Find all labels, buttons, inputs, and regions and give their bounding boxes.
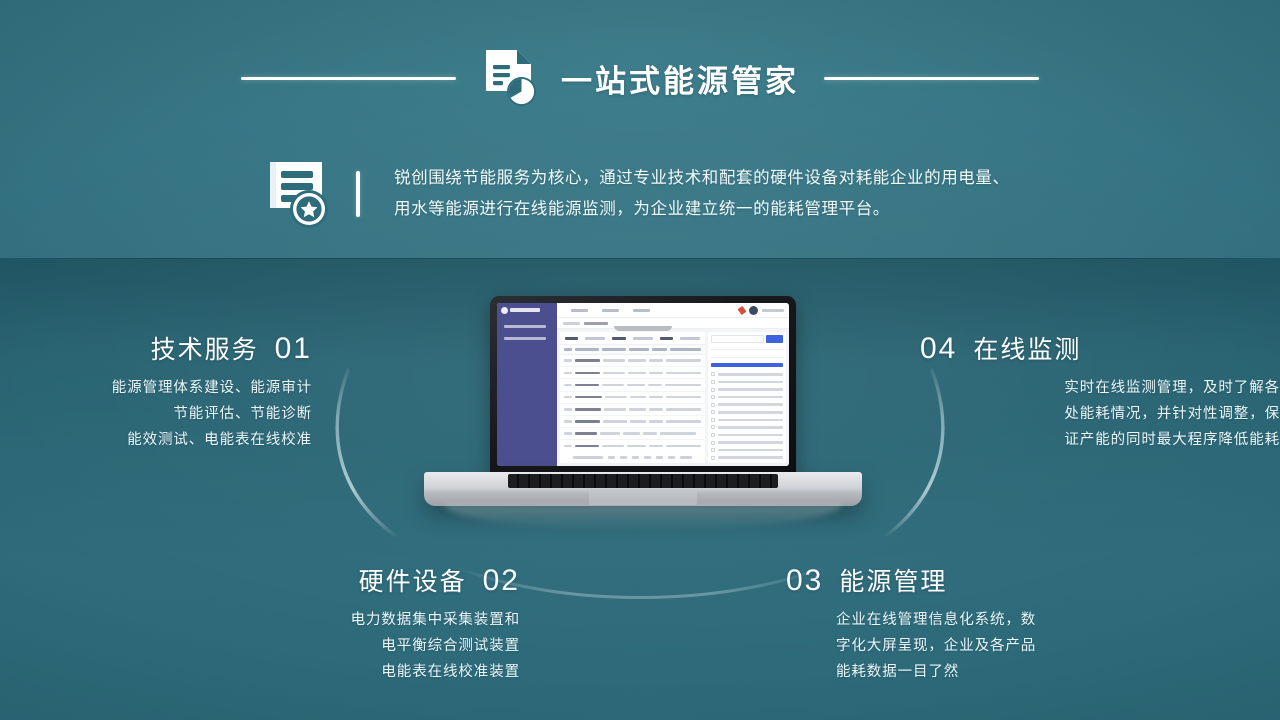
feature-desc-line: 节能评估、节能诊断 — [0, 402, 312, 428]
feature-online-monitoring: 04 在线监测 实时在线监测管理，及时了解各 处能耗情况，并针对性调整，保 证产… — [920, 330, 1280, 453]
feature-desc-line: 证产能的同时最大程序降低能耗 — [964, 428, 1280, 454]
page-header: 一站式能源管家 — [0, 44, 1280, 112]
feature-heading: 03 能源管理 — [786, 562, 1146, 598]
feature-heading: 04 在线监测 — [920, 330, 1280, 366]
brand: 一站式能源管家 — [481, 47, 799, 109]
header-divider-right — [824, 77, 1039, 80]
feature-heading: 技术服务 01 — [0, 330, 312, 366]
intro-text: 锐创围绕节能服务为核心，通过专业技术和配套的硬件设备对耗能企业的用电量、 用水等… — [394, 163, 1010, 224]
intro-line-1: 锐创围绕节能服务为核心，通过专业技术和配套的硬件设备对耗能企业的用电量、 — [394, 163, 1010, 194]
app-main — [557, 318, 789, 466]
feature-title: 硬件设备 — [359, 562, 467, 598]
side-panel — [708, 332, 786, 463]
intro-block: 锐创围绕节能服务为核心，通过专业技术和配套的硬件设备对耗能企业的用电量、 用水等… — [262, 158, 1010, 230]
feature-title: 技术服务 — [151, 330, 259, 366]
search-input[interactable] — [711, 335, 764, 343]
avatar[interactable] — [749, 306, 758, 315]
feature-desc-line: 能源管理体系建设、能源审计 — [0, 376, 312, 402]
feature-desc-line: 字化大屏呈现，企业及各产品 — [836, 634, 1146, 660]
panel-checkbox-item[interactable] — [711, 380, 783, 385]
panel-select[interactable] — [711, 353, 783, 357]
table-row[interactable] — [560, 440, 705, 452]
breadcrumb — [557, 318, 789, 329]
table-pagination[interactable] — [560, 452, 705, 463]
feature-energy-management: 03 能源管理 企业在线管理信息化系统，数 字化大屏呈现，企业及各产品 能耗数据… — [786, 562, 1146, 685]
panel-checkbox-item[interactable] — [711, 448, 783, 453]
page-title: 一站式能源管家 — [561, 56, 799, 101]
laptop-mockup — [424, 296, 862, 526]
feature-description: 电力数据集中采集装置和 电平衡综合测试装置 电能表在线校准装置 — [150, 608, 520, 685]
table-body — [560, 355, 705, 452]
table-row[interactable] — [560, 379, 705, 391]
app-nav[interactable] — [557, 309, 650, 312]
panel-checkbox-item[interactable] — [711, 433, 783, 438]
feature-number: 01 — [275, 332, 312, 366]
feature-description: 能源管理体系建设、能源审计 节能评估、节能诊断 能效测试、电能表在线校准 — [0, 376, 312, 453]
feature-heading: 硬件设备 02 — [150, 562, 520, 598]
table-row[interactable] — [560, 367, 705, 379]
edit-icon[interactable] — [738, 305, 747, 314]
app-body — [497, 318, 789, 466]
feature-desc-line: 实时在线监测管理，及时了解各 — [964, 376, 1280, 402]
panel-checkbox-item[interactable] — [711, 410, 783, 415]
app-topbar — [497, 303, 789, 318]
app-sidebar[interactable] — [497, 318, 557, 466]
laptop-base-notch — [614, 326, 672, 331]
feature-technical-service: 技术服务 01 能源管理体系建设、能源审计 节能评估、节能诊断 能效测试、电能表… — [0, 330, 312, 453]
table-row[interactable] — [560, 404, 705, 416]
panel-checkbox-item[interactable] — [711, 425, 783, 430]
app-content — [557, 329, 789, 466]
table-row[interactable] — [560, 355, 705, 367]
header-divider-left — [241, 77, 456, 80]
feature-desc-line: 企业在线管理信息化系统，数 — [836, 608, 1146, 634]
table-filters[interactable] — [560, 332, 705, 345]
feature-number: 02 — [483, 564, 520, 598]
panel-checkbox-item[interactable] — [711, 387, 783, 392]
panel-primary-button[interactable] — [711, 363, 783, 367]
panel-checkbox-item[interactable] — [711, 402, 783, 407]
feature-desc-line: 电平衡综合测试装置 — [150, 634, 520, 660]
app-user-area[interactable] — [739, 306, 789, 315]
document-chart-icon — [481, 47, 539, 109]
table-row[interactable] — [560, 428, 705, 440]
feature-desc-line: 能效测试、电能表在线校准 — [0, 428, 312, 454]
feature-title: 在线监测 — [973, 330, 1081, 366]
app-logo — [497, 303, 557, 318]
panel-checkbox-item[interactable] — [711, 372, 783, 377]
feature-desc-line: 电能表在线校准装置 — [150, 660, 520, 686]
feature-number: 04 — [920, 332, 957, 366]
table-header-row — [560, 345, 705, 355]
panel-checkbox-item[interactable] — [711, 418, 783, 423]
feature-desc-line: 电力数据集中采集装置和 — [150, 608, 520, 634]
data-table — [560, 332, 705, 463]
panel-checkbox-item[interactable] — [711, 455, 783, 460]
feature-hardware-equipment: 硬件设备 02 电力数据集中采集装置和 电平衡综合测试装置 电能表在线校准装置 — [150, 562, 520, 685]
laptop-lid — [490, 296, 796, 478]
table-row[interactable] — [560, 392, 705, 404]
panel-checkbox-item[interactable] — [711, 395, 783, 400]
feature-desc-line: 能耗数据一目了然 — [836, 660, 1146, 686]
feature-title: 能源管理 — [839, 562, 947, 598]
panel-select[interactable] — [711, 346, 783, 350]
feature-description: 企业在线管理信息化系统，数 字化大屏呈现，企业及各产品 能耗数据一目了然 — [786, 608, 1146, 685]
panel-search[interactable] — [711, 335, 783, 343]
sidebar-item[interactable] — [504, 325, 546, 328]
feature-description: 实时在线监测管理，及时了解各 处能耗情况，并针对性调整，保 证产能的同时最大程序… — [920, 376, 1280, 453]
panel-checkbox-item[interactable] — [711, 440, 783, 445]
user-name — [762, 309, 784, 312]
feature-desc-line: 处能耗情况，并针对性调整，保 — [964, 402, 1280, 428]
search-button[interactable] — [766, 335, 783, 343]
table-row[interactable] — [560, 416, 705, 428]
document-star-icon — [262, 158, 330, 230]
feature-number: 03 — [786, 564, 823, 598]
laptop-trackpad — [589, 490, 697, 505]
laptop-keyboard — [508, 474, 778, 488]
intro-line-2: 用水等能源进行在线能源监测，为企业建立统一的能耗管理平台。 — [394, 194, 1010, 225]
sidebar-item[interactable] — [504, 337, 546, 340]
intro-accent-bar — [356, 171, 360, 217]
